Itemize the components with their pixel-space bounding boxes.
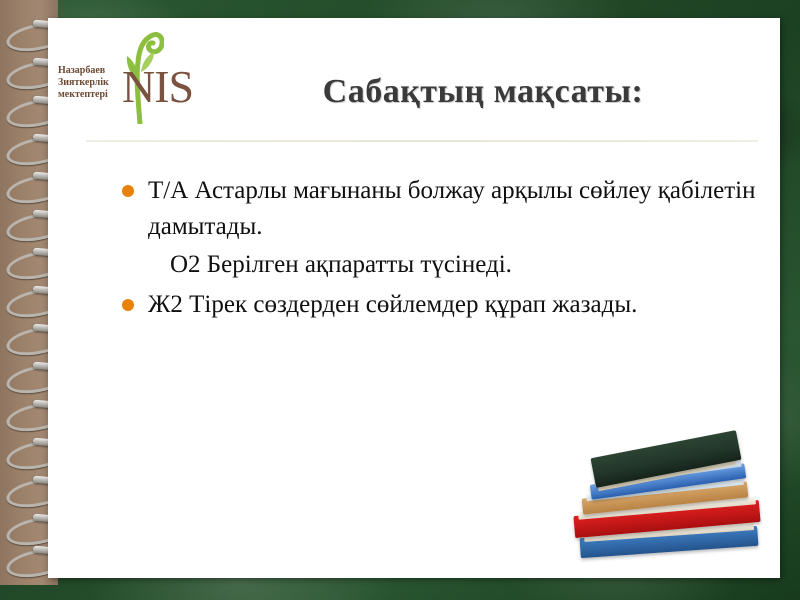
bullet-subline: О2 Берілген ақпаратты түсінеді. <box>170 247 768 283</box>
slide-sheet: Назарбаев Зияткерлік мектептері NIS Саба… <box>48 18 780 578</box>
logo-org-name: Назарбаев Зияткерлік мектептері <box>58 65 120 101</box>
bullet-text: Ж2 Тірек сөздерден сөйлемдер құрап жазад… <box>148 287 768 323</box>
bullet-text: Т/А Астарлы мағынаны болжау арқылы сөйле… <box>148 173 768 245</box>
list-item: Ж2 Тірек сөздерден сөйлемдер құрап жазад… <box>108 287 768 323</box>
logo-abbreviation: NIS <box>122 64 193 110</box>
logo-line-3: мектептері <box>58 89 120 101</box>
bullet-dot-icon <box>122 185 134 197</box>
bullet-dot-icon <box>122 299 134 311</box>
slide-title: Сабақтың мақсаты: <box>203 73 763 111</box>
list-item: Т/А Астарлы мағынаны болжау арқылы сөйле… <box>108 173 768 245</box>
title-divider <box>86 140 758 142</box>
stack-of-books-image <box>568 436 778 576</box>
slide-body: Т/А Астарлы мағынаны болжау арқылы сөйле… <box>108 173 768 325</box>
logo-line-1: Назарбаев <box>58 65 120 77</box>
logo-line-2: Зияткерлік <box>58 77 120 89</box>
nis-logo: Назарбаев Зияткерлік мектептері NIS <box>56 28 201 128</box>
